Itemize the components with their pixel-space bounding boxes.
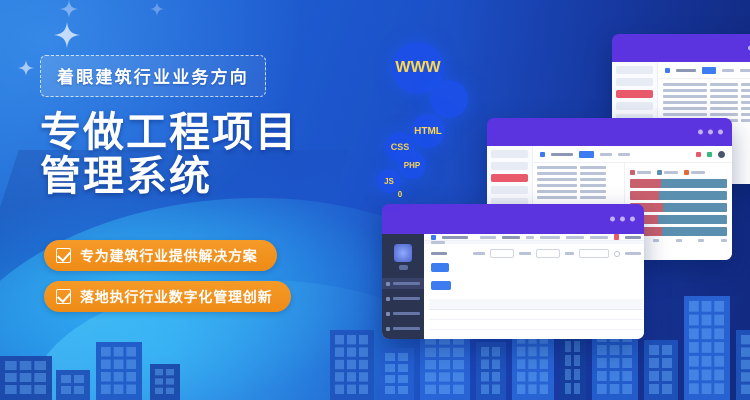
sidebar-item-icon — [386, 282, 390, 286]
app-logo-icon-middle — [540, 152, 545, 157]
table-row[interactable] — [537, 196, 620, 199]
chart-bars-middle — [630, 179, 727, 236]
legend-item-0 — [630, 170, 651, 175]
table-cell-4 — [524, 329, 545, 339]
bar-segment-blue — [661, 179, 727, 188]
sidebar-item-3[interactable] — [616, 102, 653, 110]
building-3 — [150, 364, 180, 400]
row-action-button[interactable] — [628, 309, 643, 319]
bar-segment-red — [630, 191, 659, 200]
search-input[interactable] — [579, 249, 609, 258]
filter-toolbar-front[interactable] — [424, 244, 644, 277]
app-logo-icon-topbar — [431, 235, 436, 240]
table-row[interactable] — [663, 83, 750, 86]
window-title-bar-back — [612, 34, 750, 62]
bar-segment-blue — [662, 227, 727, 236]
tech-bubble-label: HTML — [414, 126, 442, 137]
sidebar-item-2[interactable] — [616, 90, 653, 98]
building-4 — [330, 330, 374, 400]
axis-tick-3 — [698, 239, 704, 242]
table-row[interactable] — [537, 190, 620, 193]
headline-line-1: 专做工程项目 — [40, 111, 370, 155]
status-badge — [601, 319, 611, 329]
building-12 — [684, 296, 730, 400]
tagline-box: 着眼建筑行业业务方向 — [40, 55, 266, 97]
topbar-front — [424, 234, 644, 241]
sidebar-item-icon — [386, 312, 390, 316]
search-button[interactable] — [431, 263, 449, 272]
axis-tick-4 — [721, 239, 727, 242]
tagline-text: 着眼建筑行业业务方向 — [57, 68, 249, 87]
feature-badge-label: 落地执行行业数字化管理创新 — [80, 287, 272, 307]
status-icon-middle — [707, 152, 712, 157]
table-cell-1 — [439, 309, 465, 319]
table-cell-4 — [524, 319, 545, 329]
project-list-front[interactable] — [382, 204, 644, 339]
sidebar-item-icon — [386, 327, 390, 331]
tech-bubble-label: 0 — [398, 190, 402, 199]
table-cell-4 — [524, 309, 545, 319]
chart-bar-3 — [630, 215, 727, 224]
app-logo-icon-back — [665, 68, 670, 73]
table-cell-0 — [429, 319, 439, 329]
building-7 — [476, 342, 506, 400]
sidebar-subtitle-front — [399, 265, 408, 270]
feature-badge-1[interactable]: 专为建筑行业提供解决方案 — [44, 240, 277, 271]
table-row[interactable] — [537, 178, 620, 181]
bar-segment-blue — [658, 215, 727, 224]
table-cell-9 — [611, 319, 628, 329]
table-cell-6 — [573, 319, 587, 329]
axis-tick-1 — [653, 239, 659, 242]
feature-badges: 专为建筑行业提供解决方案 落地执行行业数字化管理创新 — [44, 240, 291, 322]
chart-bar-1 — [630, 191, 727, 200]
table-row[interactable] — [537, 184, 620, 187]
sidebar-item-3[interactable] — [382, 323, 424, 334]
chart-bar-2 — [630, 203, 727, 212]
table-cell-2 — [465, 319, 486, 329]
sidebar-item-1[interactable] — [491, 162, 528, 170]
avatar-middle[interactable] — [718, 151, 725, 158]
sparkle-icon — [18, 60, 34, 76]
tech-bubble-label: PHP — [404, 161, 420, 170]
refresh-icon[interactable] — [614, 251, 620, 257]
checkbox-checked-icon — [56, 289, 71, 304]
table-row[interactable] — [663, 89, 750, 92]
table-header-cell-1[interactable] — [439, 299, 465, 309]
table-header-cell-3[interactable] — [485, 299, 523, 309]
sidebar-item-1[interactable] — [382, 293, 424, 304]
legend-swatch — [630, 170, 635, 175]
table-cell-5 — [544, 309, 572, 319]
tech-bubble-PHP: PHP — [398, 151, 426, 179]
table-cell-0 — [429, 329, 439, 339]
table-row[interactable] — [429, 329, 643, 339]
alert-icon-front[interactable] — [614, 234, 619, 240]
table-cell-3 — [485, 319, 523, 329]
filter-select-1[interactable] — [490, 249, 514, 258]
sidebar-item-label — [393, 297, 420, 300]
sidebar-front[interactable] — [382, 234, 424, 339]
sidebar-item-label — [393, 327, 420, 330]
table-cell-9 — [611, 329, 628, 339]
table-cell-3 — [485, 309, 523, 319]
tech-bubble-label: WWW — [395, 59, 440, 77]
feature-badge-2[interactable]: 落地执行行业数字化管理创新 — [44, 281, 291, 312]
tech-bubble-label: JS — [384, 177, 394, 186]
table-row[interactable] — [537, 172, 620, 175]
building-0 — [0, 356, 52, 400]
table-header-cell-0[interactable] — [429, 299, 439, 309]
table-cell-1 — [439, 319, 465, 329]
sparkle-icon — [150, 2, 164, 16]
table-cell-2 — [465, 309, 486, 319]
legend-swatch — [684, 170, 689, 175]
table-cell-6 — [573, 329, 587, 339]
app-logo-icon-front — [394, 244, 412, 262]
table-cell-3 — [485, 329, 523, 339]
building-2 — [96, 342, 142, 400]
legend-item-1 — [657, 170, 678, 175]
tech-bubble-0: 0 — [392, 186, 408, 202]
sidebar-item-0[interactable] — [616, 66, 653, 74]
bar-segment-red — [630, 179, 661, 188]
filter-select-2[interactable] — [536, 249, 560, 258]
table-cell-6 — [573, 309, 587, 319]
sidebar-item-icon — [386, 297, 390, 301]
chart-bar-0 — [630, 179, 727, 188]
table-header-cell-7[interactable] — [587, 299, 601, 309]
axis-tick-2 — [676, 239, 682, 242]
sparkle-icon — [54, 22, 80, 48]
window-dots-front — [610, 217, 635, 222]
feature-badge-label: 专为建筑行业提供解决方案 — [80, 246, 258, 266]
table-cell-1 — [439, 329, 465, 339]
status-badge — [601, 329, 611, 339]
building-5 — [380, 348, 414, 400]
legend-swatch — [657, 170, 662, 175]
table-cell-9 — [611, 309, 628, 319]
window-dots-middle — [698, 130, 723, 135]
table-row[interactable] — [429, 309, 643, 319]
table-cell-2 — [465, 329, 486, 339]
chart-legend-middle — [630, 170, 727, 175]
row-action-button[interactable] — [628, 319, 643, 329]
headline: 专做工程项目 管理系统 — [40, 111, 370, 199]
sidebar-item-2[interactable] — [382, 308, 424, 319]
sidebar-item-3[interactable] — [491, 186, 528, 194]
table-front[interactable] — [424, 297, 644, 339]
window-title-bar-middle — [487, 118, 732, 146]
chart-bar-4 — [630, 227, 727, 236]
banner-copy: 着眼建筑行业业务方向 专做工程项目 管理系统 — [40, 55, 370, 199]
topbar-middle — [533, 146, 732, 163]
table-row[interactable] — [429, 319, 643, 329]
topbar-back — [658, 62, 750, 79]
sidebar-item-label — [393, 312, 420, 315]
window-title-bar-front — [382, 204, 644, 234]
table-header-cell-5[interactable] — [544, 299, 572, 309]
sidebar-item-0[interactable] — [491, 150, 528, 158]
building-9 — [560, 336, 586, 400]
table-cell-0 — [429, 309, 439, 319]
table-header-cell-10[interactable] — [628, 299, 643, 309]
table-header-row — [429, 299, 643, 309]
sidebar-item-1[interactable] — [616, 78, 653, 86]
building-11 — [644, 340, 678, 400]
sidebar-item-label — [393, 282, 420, 285]
legend-item-2 — [684, 170, 705, 175]
bar-segment-blue — [659, 191, 727, 200]
table-header-cell-9[interactable] — [611, 299, 628, 309]
row-action-button[interactable] — [628, 329, 643, 339]
building-1 — [56, 370, 90, 400]
status-badge — [601, 309, 611, 319]
table-cell-5 — [544, 319, 572, 329]
tech-bubble-label: CSS — [391, 142, 410, 152]
table-header-cell-6[interactable] — [573, 299, 587, 309]
sparkle-icon — [60, 0, 78, 18]
sidebar-item-2[interactable] — [491, 174, 528, 182]
headline-line-2: 管理系统 — [40, 155, 370, 199]
panel-front — [424, 234, 644, 339]
table-cell-5 — [544, 329, 572, 339]
chart-axis-ticks-middle — [630, 239, 727, 242]
table-row[interactable] — [663, 113, 750, 116]
tech-bubble-code — [430, 80, 468, 118]
table-cell-7 — [587, 329, 601, 339]
table-header-cell-2[interactable] — [465, 299, 486, 309]
notification-icon-middle[interactable] — [696, 152, 701, 157]
table-row[interactable] — [537, 166, 620, 169]
sidebar-item-0[interactable] — [382, 278, 424, 289]
checkbox-checked-icon — [56, 248, 71, 263]
table-cell-7 — [587, 319, 601, 329]
table-row[interactable] — [663, 107, 750, 110]
table-row[interactable] — [663, 95, 750, 98]
bar-segment-blue — [663, 203, 727, 212]
sidebar-item-4[interactable] — [382, 338, 424, 339]
table-row[interactable] — [663, 101, 750, 104]
tech-bubble-HTML: HTML — [411, 114, 445, 148]
table-header-cell-4[interactable] — [524, 299, 545, 309]
building-13 — [736, 330, 750, 400]
banner-stage: WWW HTML CSS PHP JS 0 着眼建筑行业业务方向 专做工程项目 … — [0, 0, 750, 400]
add-button[interactable] — [431, 281, 451, 290]
table-cell-7 — [587, 309, 601, 319]
table-header-cell-8[interactable] — [601, 299, 611, 309]
